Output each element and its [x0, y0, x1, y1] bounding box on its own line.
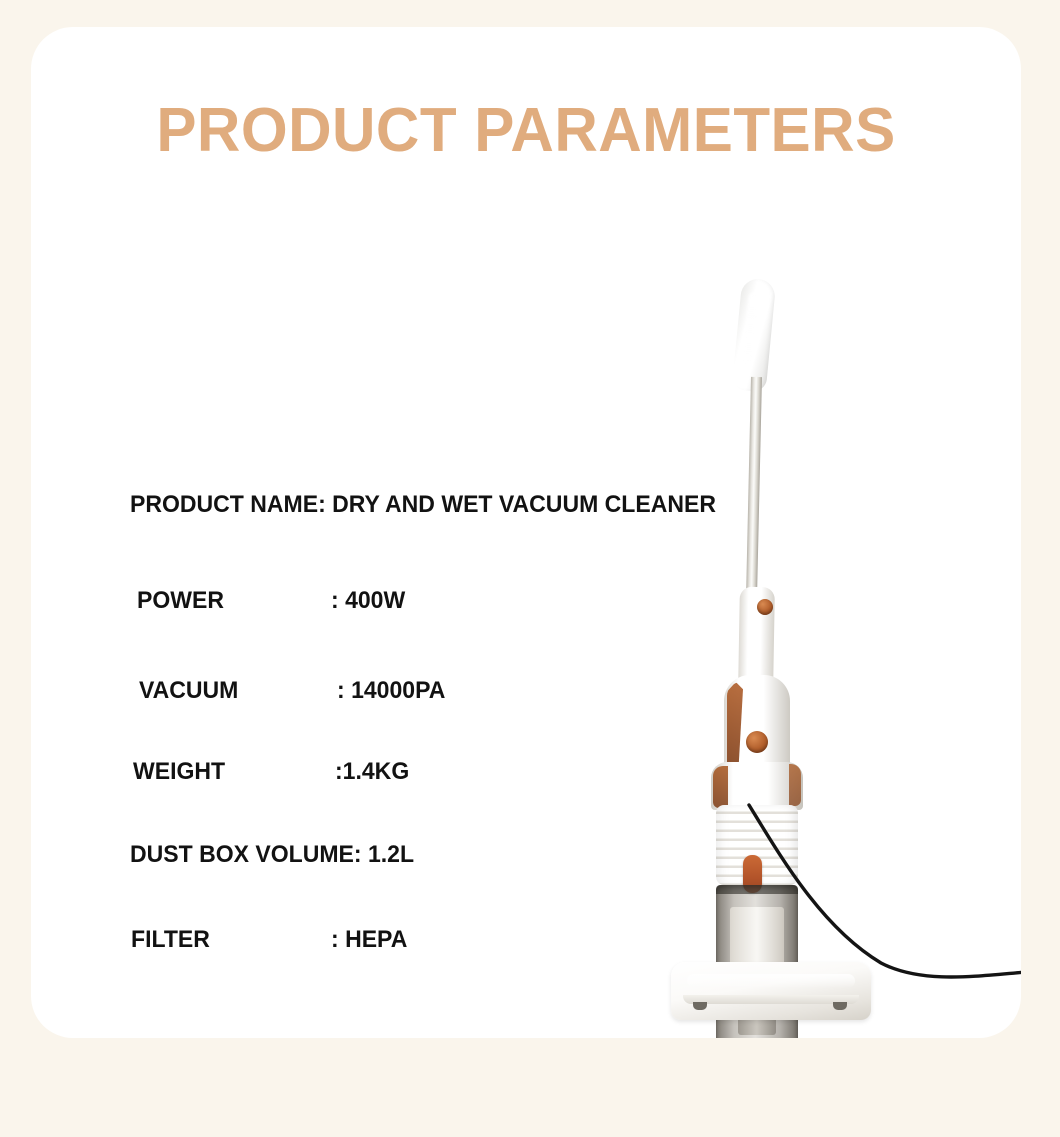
spec-row-vacuum: VACUUM : 14000PA	[31, 671, 691, 711]
product-image-alt: Cordless stick dry and wet vacuum cleane…	[631, 257, 632, 258]
spec-row-power: POWER : 400W	[31, 581, 691, 621]
power-button-icon	[757, 599, 773, 615]
spec-value-power: : 400W	[331, 581, 405, 621]
dust-cup-rim	[716, 885, 798, 894]
page-title: PRODUCT PARAMETERS	[46, 100, 1006, 162]
floor-head-wheel-left	[693, 1002, 707, 1010]
product-image: Cordless stick dry and wet vacuum cleane…	[631, 257, 1021, 1038]
spec-label-vacuum: VACUUM	[139, 671, 238, 711]
extension-tube-part	[746, 377, 762, 599]
page-background: PRODUCT PARAMETERS PRODUCT NAME: DRY AND…	[0, 0, 1060, 1137]
product-parameters-card: PRODUCT PARAMETERS PRODUCT NAME: DRY AND…	[31, 27, 1021, 1038]
spec-list: PRODUCT NAME: DRY AND WET VACUUM CLEANER…	[31, 447, 691, 947]
spec-label-weight: WEIGHT	[133, 752, 225, 792]
mode-button-icon	[746, 731, 768, 753]
floor-head-part	[671, 962, 871, 1020]
spec-value-vacuum: : 14000PA	[337, 671, 445, 711]
motor-shoulder-part	[711, 762, 803, 810]
spec-row-dust-box-volume: DUST BOX VOLUME: 1.2L	[31, 835, 691, 875]
handle-grip-part	[732, 278, 777, 393]
spec-label-product-name: PRODUCT NAME: DRY AND WET VACUUM CLEANER	[130, 485, 716, 525]
spec-row-weight: WEIGHT :1.4KG	[31, 752, 691, 792]
spec-row-filter: FILTER : HEPA	[31, 920, 691, 960]
spec-row-product-name: PRODUCT NAME: DRY AND WET VACUUM CLEANER	[31, 485, 691, 525]
spec-label-dust-box-volume: DUST BOX VOLUME: 1.2L	[130, 835, 414, 875]
floor-head-wheel-right	[833, 1002, 847, 1010]
hepa-filter-part	[730, 907, 784, 969]
spec-value-weight: :1.4KG	[335, 752, 409, 792]
spec-value-filter: : HEPA	[331, 920, 407, 960]
spec-label-filter: FILTER	[131, 920, 210, 960]
spec-label-power: POWER	[137, 581, 224, 621]
